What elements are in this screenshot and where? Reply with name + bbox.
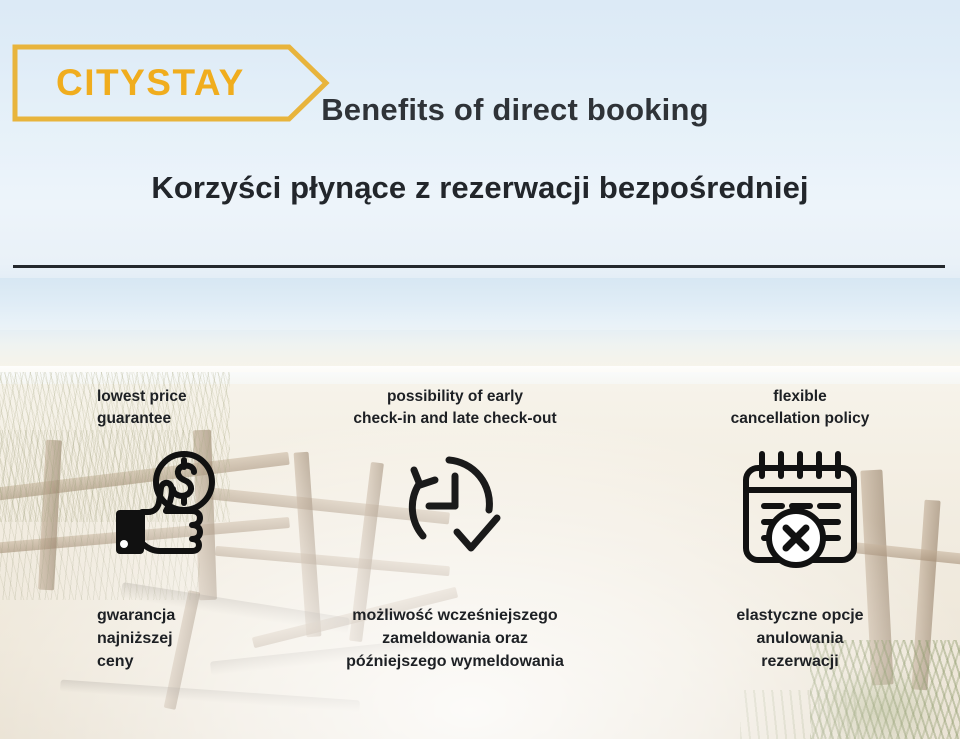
benefit-label-en: lowest priceguarantee <box>20 386 310 430</box>
header-divider <box>13 265 945 268</box>
benefit-card-flexible-cancellation-policy: flexiblecancellation policy <box>655 278 945 739</box>
clock-arrow-check-icon <box>399 450 511 562</box>
calendar-cancel-icon <box>738 450 862 568</box>
benefit-label-pl: możliwość wcześniejszegozameldowania ora… <box>310 604 600 673</box>
header: CITYSTAY Benefits of direct booking Korz… <box>0 0 960 278</box>
thumbs-up-dollar-icon <box>108 450 220 558</box>
benefit-label-en: possibility of earlycheck-in and late ch… <box>310 386 600 430</box>
poster-canvas: CITYSTAY Benefits of direct booking Korz… <box>0 0 960 739</box>
benefit-card-early-checkin-late-checkout: possibility of earlycheck-in and late ch… <box>310 278 600 739</box>
title-polish: Korzyści płynące z rezerwacji bezpośredn… <box>0 170 960 206</box>
benefit-icon-slot <box>655 450 945 568</box>
benefit-label-pl: gwarancjanajniższejceny <box>20 604 310 673</box>
title-english: Benefits of direct booking <box>0 92 960 128</box>
benefit-icon-slot <box>20 450 310 558</box>
benefit-label-pl: elastyczne opcjeanulowaniarezerwacji <box>655 604 945 673</box>
benefit-card-lowest-price-guarantee: lowest priceguarantee gwarancja <box>20 278 310 739</box>
benefit-icon-slot <box>310 450 600 562</box>
benefits-row: lowest priceguarantee gwarancja <box>0 278 960 739</box>
benefit-label-en: flexiblecancellation policy <box>655 386 945 430</box>
